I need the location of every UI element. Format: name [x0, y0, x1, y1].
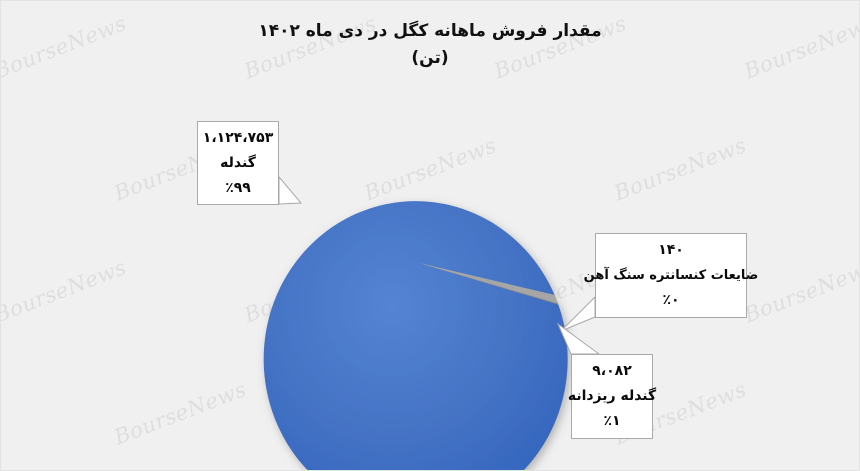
callout-pellet-name: گندله: [220, 151, 256, 176]
chart-title-unit: (تن): [1, 44, 859, 72]
callout-waste-name: ضایعات کنسانتره سنگ آهن: [584, 263, 759, 288]
callout-fine-pellet[interactable]: ۹،۰۸۲ گندله ریزدانه ٪۱: [571, 354, 653, 439]
callout-fine-pellet-name: گندله ریزدانه: [568, 384, 656, 409]
callout-fine-pellet-value: ۹،۰۸۲: [592, 359, 632, 384]
callout-waste-percent: ٪۰: [662, 288, 679, 313]
callout-pellet[interactable]: ۱،۱۲۴،۷۵۳ گندله ٪۹۹: [197, 121, 279, 205]
callout-pellet-percent: ٪۹۹: [225, 176, 251, 201]
callout-fine-pellet-percent: ٪۱: [603, 409, 620, 434]
chart-title: مقدار فروش ماهانه کگل در دی ماه ۱۴۰۲ (تن…: [1, 18, 859, 72]
chart-canvas: BourseNewsBourseNewsBourseNewsBourseNews…: [0, 0, 860, 471]
callout-waste-value: ۱۴۰: [658, 238, 684, 263]
chart-title-line-1: مقدار فروش ماهانه کگل در دی ماه ۱۴۰۲: [1, 18, 859, 44]
callout-pellet-value: ۱،۱۲۴،۷۵۳: [203, 126, 273, 151]
callout-waste[interactable]: ۱۴۰ ضایعات کنسانتره سنگ آهن ٪۰: [595, 233, 747, 318]
pie-slice-pellet[interactable]: [264, 201, 568, 471]
